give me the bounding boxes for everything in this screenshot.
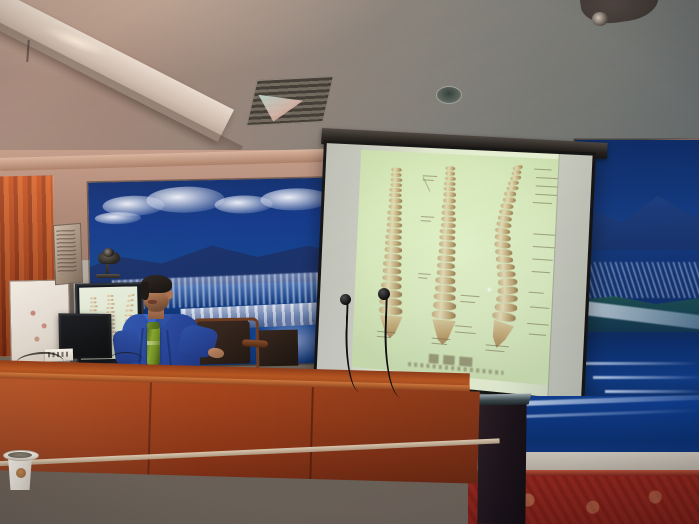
camera-lens-icon	[103, 248, 114, 257]
lectern-top	[475, 394, 532, 406]
projector-lens	[592, 12, 608, 26]
whiteboard-markings	[23, 303, 58, 354]
presenter-hair-side	[140, 282, 149, 300]
conference-chair	[258, 330, 299, 367]
microphone-head[interactable]	[378, 288, 390, 300]
cloud	[95, 212, 141, 225]
light-streak	[579, 362, 699, 365]
thermos-flask[interactable]	[147, 326, 160, 366]
cup-interior	[8, 452, 32, 458]
cup-logo	[16, 468, 26, 478]
light-streak	[593, 376, 699, 379]
thermos-cap	[147, 322, 160, 329]
city-lights	[579, 262, 699, 298]
photo-scene	[0, 0, 699, 524]
cloud	[146, 186, 225, 214]
light-streak	[605, 390, 699, 393]
microphone-head[interactable]	[340, 294, 351, 305]
air-vent-icon	[246, 76, 334, 126]
thermos-highlight	[147, 341, 160, 345]
projection-color-tint	[351, 150, 558, 386]
presenter-mouth	[148, 300, 157, 304]
speaker-grille	[56, 230, 77, 275]
downlight-icon	[436, 86, 462, 104]
projected-slide	[351, 150, 558, 386]
